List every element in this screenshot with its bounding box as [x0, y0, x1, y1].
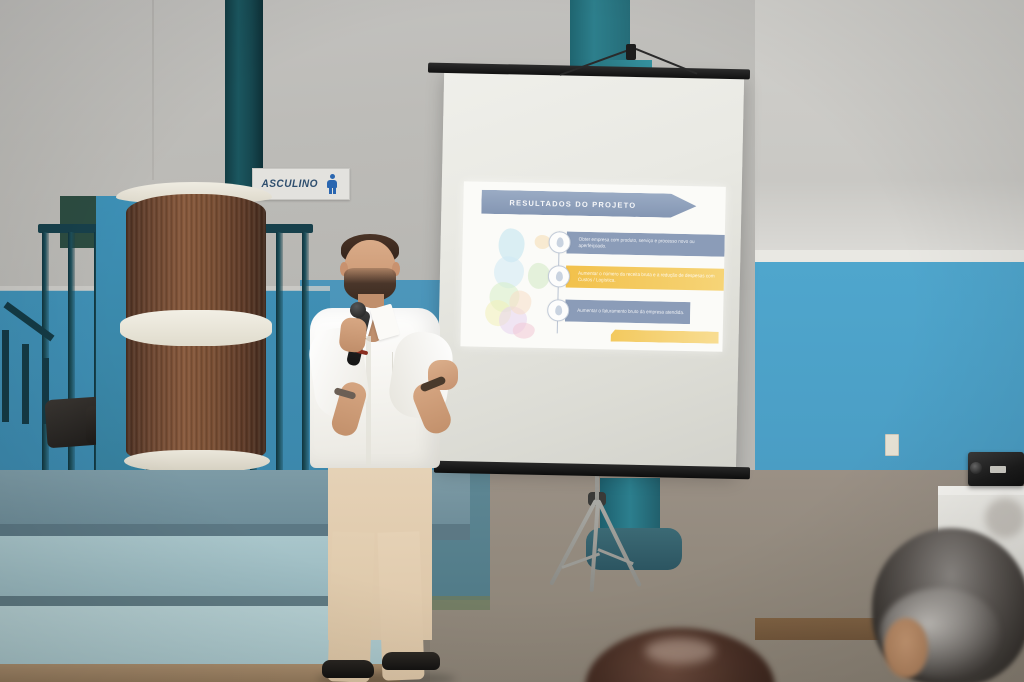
slide-bullet-1: Obter empresa com produto, serviço e pro… [548, 231, 724, 257]
slide-bullet-2: Aumentar o número da receita bruta e a r… [548, 265, 724, 291]
side-table-edge [938, 486, 1024, 495]
projector-label [990, 466, 1006, 473]
railing-handrail [0, 270, 52, 420]
speaker-shoe-right [382, 652, 440, 670]
speaker-shoe-left [322, 660, 374, 678]
slide-bullet-3-box: Aumentar o faturamento bruto da empresa … [565, 299, 690, 324]
audience-head-grey-face [884, 618, 928, 678]
light-switch[interactable] [885, 434, 899, 456]
slide-bullet-1-box: Obter empresa com produto, serviço e pro… [566, 232, 724, 257]
speaker [300, 232, 500, 682]
slide: RESULTADOS DO PROJETO [460, 181, 725, 351]
slide-title-bar: RESULTADOS DO PROJETO [481, 190, 696, 218]
podium [108, 182, 280, 476]
projector [968, 452, 1024, 486]
screen-tripod [538, 470, 658, 592]
slide-bullet-3: Aumentar o faturamento bruto da empresa … [547, 299, 690, 324]
speaker-hand-left [338, 317, 367, 354]
wall-crack [152, 0, 154, 180]
male-restroom-icon [326, 174, 338, 194]
screen-hanger [626, 44, 636, 60]
slide-title: RESULTADOS DO PROJETO [481, 197, 636, 209]
slide-bullet-1-text: Obter empresa com produto, serviço e pro… [578, 236, 718, 252]
audience-head-far [985, 498, 1024, 538]
audience-head-dark-highlight [645, 638, 715, 664]
photo-scene: ASCULINO [0, 0, 1024, 682]
slide-bullet-2-box: Aumentar o número da receita bruta e a r… [566, 265, 724, 290]
slide-bullet-2-text: Aumentar o número da receita bruta e a r… [578, 270, 718, 286]
projector-lens-icon [970, 462, 982, 474]
slide-bullet-3-text: Aumentar o faturamento bruto da empresa … [577, 308, 684, 317]
slide-footer-arrow [611, 329, 719, 343]
teal-column [225, 0, 263, 196]
upper-wall-right [755, 0, 1024, 258]
